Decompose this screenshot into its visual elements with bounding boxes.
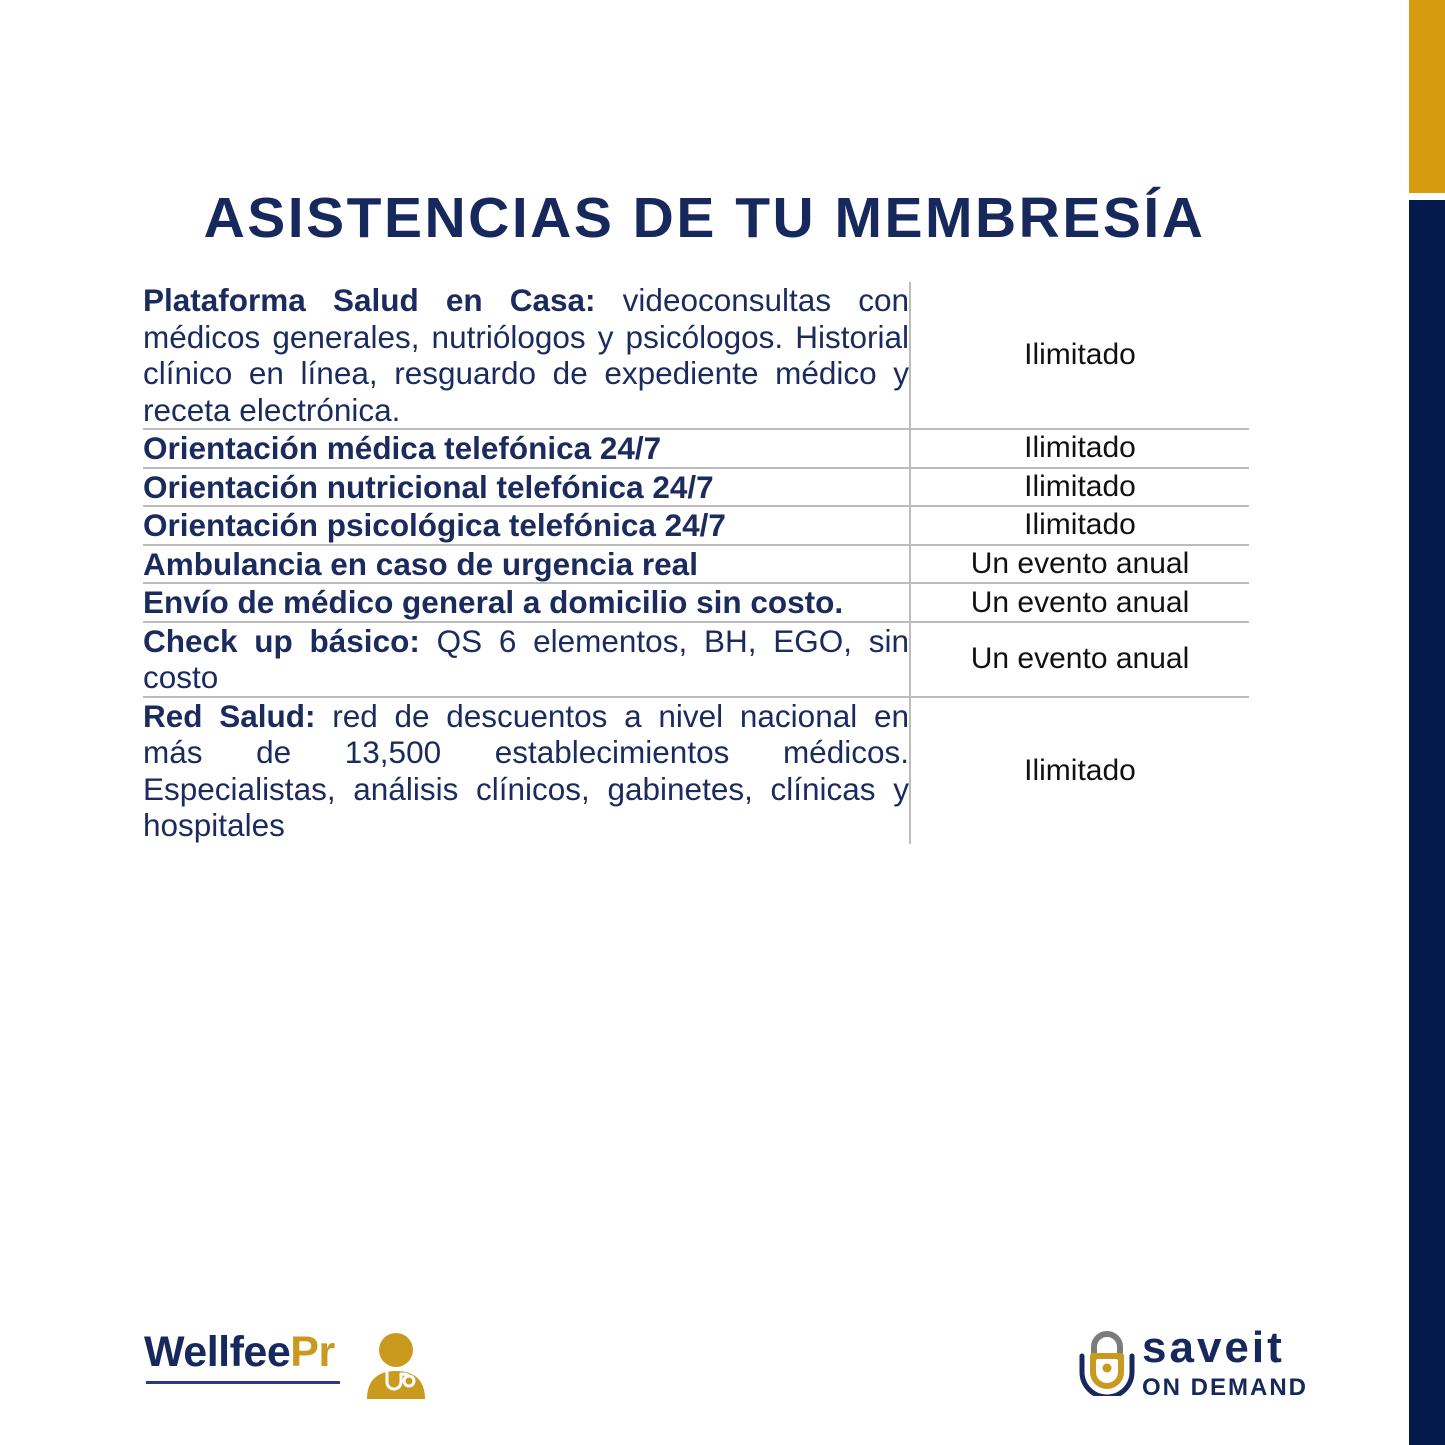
benefit-value-cell: Ilimitado (910, 697, 1249, 844)
wellfee-pro-logo: WellfeePr (144, 1328, 444, 1428)
assistances-table: Plataforma Salud en Casa: videoconsultas… (143, 282, 1249, 844)
benefit-lead: Check up básico: (143, 623, 420, 659)
benefit-lead: Red Salud: (143, 698, 316, 734)
benefit-lead: Ambulancia en caso de urgencia real (143, 546, 698, 582)
benefit-description-cell: Envío de médico general a domicilio sin … (143, 583, 910, 622)
assistances-table-body: Plataforma Salud en Casa: videoconsultas… (143, 282, 1249, 844)
wellfee-word-primary: Wellfee (144, 1328, 290, 1376)
benefit-description-cell: Orientación nutricional telefónica 24/7 (143, 468, 910, 507)
membership-benefits-page: ASISTENCIAS DE TU MEMBRESÍA Plataforma S… (0, 0, 1445, 1445)
benefit-lead: Orientación médica telefónica 24/7 (143, 430, 661, 466)
saveit-wordmark: saveit ON DEMAND (1142, 1326, 1308, 1402)
benefit-description-cell: Red Salud: red de descuentos a nivel nac… (143, 697, 910, 844)
benefit-description-cell: Orientación psicológica telefónica 24/7 (143, 506, 910, 545)
benefit-description-cell: Ambulancia en caso de urgencia real (143, 545, 910, 584)
table-row: Orientación nutricional telefónica 24/7 … (143, 468, 1249, 507)
benefit-description-cell: Check up básico: QS 6 elementos, BH, EGO… (143, 622, 910, 697)
table-row: Envío de médico general a domicilio sin … (143, 583, 1249, 622)
wellfee-wordmark: WellfeePr (144, 1328, 335, 1377)
padlock-icon (1076, 1328, 1138, 1396)
benefit-lead: Orientación psicológica telefónica 24/7 (143, 507, 726, 543)
table-row: Orientación médica telefónica 24/7 Ilimi… (143, 429, 1249, 468)
doctor-avatar-icon (365, 1333, 427, 1399)
table-row: Check up básico: QS 6 elementos, BH, EGO… (143, 622, 1249, 697)
saveit-word-main: saveit (1142, 1326, 1308, 1370)
saveit-on-demand-logo: saveit ON DEMAND (1076, 1326, 1316, 1422)
table-row: Orientación psicológica telefónica 24/7 … (143, 506, 1249, 545)
table-row: Plataforma Salud en Casa: videoconsultas… (143, 282, 1249, 429)
wellfee-word-secondary: Pr (290, 1328, 334, 1376)
benefit-value-cell: Un evento anual (910, 622, 1249, 697)
table-row: Red Salud: red de descuentos a nivel nac… (143, 697, 1249, 844)
benefit-value-cell: Ilimitado (910, 429, 1249, 468)
page-title: ASISTENCIAS DE TU MEMBRESÍA (0, 185, 1409, 251)
benefit-lead: Envío de médico general a domicilio sin … (143, 584, 843, 620)
benefit-value-cell: Un evento anual (910, 545, 1249, 584)
benefit-lead: Plataforma Salud en Casa: (143, 282, 596, 318)
benefit-value-cell: Ilimitado (910, 506, 1249, 545)
table-row: Ambulancia en caso de urgencia real Un e… (143, 545, 1249, 584)
benefit-value-cell: Ilimitado (910, 282, 1249, 429)
saveit-word-sub: ON DEMAND (1142, 1374, 1308, 1402)
wellfee-underline (146, 1381, 340, 1384)
benefit-description-cell: Orientación médica telefónica 24/7 (143, 429, 910, 468)
decorative-navy-bar (1409, 200, 1445, 1445)
benefit-value-cell: Ilimitado (910, 468, 1249, 507)
benefit-description-cell: Plataforma Salud en Casa: videoconsultas… (143, 282, 910, 429)
benefit-value-cell: Un evento anual (910, 583, 1249, 622)
decorative-gold-bar (1409, 0, 1445, 193)
benefit-lead: Orientación nutricional telefónica 24/7 (143, 469, 714, 505)
